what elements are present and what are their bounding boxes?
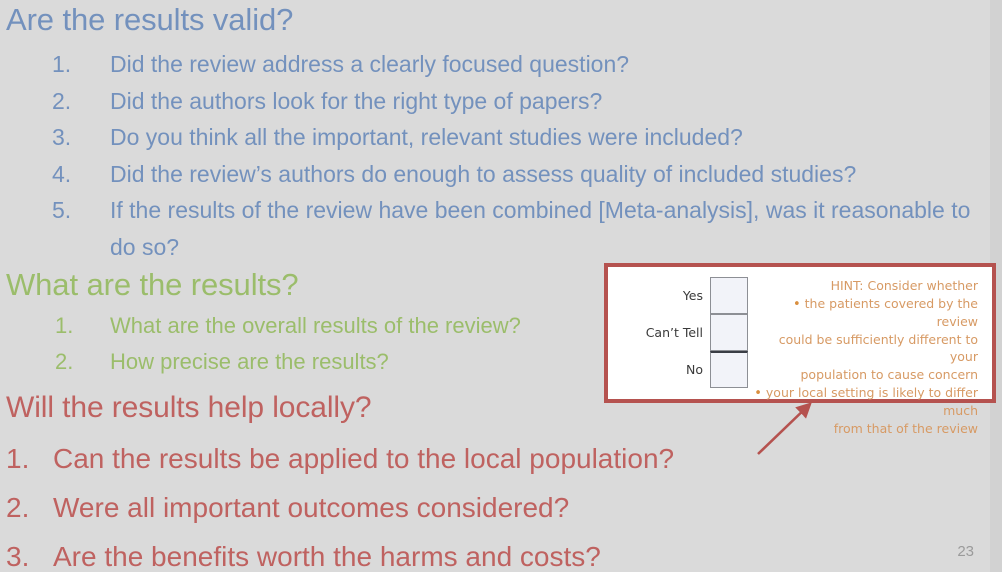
- list-item-text: Did the review’s authors do enough to as…: [0, 156, 980, 193]
- answer-row-no: No: [608, 351, 748, 388]
- answer-options-group: Yes Can’t Tell No: [608, 267, 748, 388]
- answer-checkbox-cant-tell[interactable]: [710, 314, 748, 351]
- list-item-text: How precise are the results?: [0, 344, 521, 380]
- list-item: 4. Did the review’s authors do enough to…: [0, 156, 980, 193]
- list-item-number: 2.: [6, 483, 29, 532]
- list-item-text: Do you think all the important, relevant…: [0, 119, 980, 156]
- question-list-local: 1. Can the results be applied to the loc…: [0, 434, 674, 572]
- list-item: 1. What are the overall results of the r…: [0, 308, 521, 344]
- list-item-text: Did the authors look for the right type …: [0, 83, 980, 120]
- list-item-text: What are the overall results of the revi…: [0, 308, 521, 344]
- list-item-text: Did the review address a clearly focused…: [0, 46, 980, 83]
- answer-row-cant-tell: Can’t Tell: [608, 314, 748, 351]
- list-item: 2. How precise are the results?: [0, 344, 521, 380]
- list-item-number: 1.: [52, 46, 71, 83]
- list-item-text: Were all important outcomes considered?: [0, 483, 674, 532]
- list-item-number: 1.: [6, 434, 29, 483]
- hint-callout-box: Yes Can’t Tell No HINT: Consider whether…: [604, 263, 996, 403]
- list-item-text: Can the results be applied to the local …: [0, 434, 674, 483]
- bullet-icon: •: [793, 297, 805, 312]
- answer-row-yes: Yes: [608, 277, 748, 314]
- list-item: 5. If the results of the review have bee…: [0, 192, 980, 265]
- answer-label: Yes: [683, 288, 710, 303]
- list-item-text: Are the benefits worth the harms and cos…: [0, 532, 674, 572]
- section-heading-results: What are the results?: [6, 267, 299, 303]
- hint-line: •the patients covered by the review: [752, 295, 978, 331]
- page-number: 23: [957, 543, 974, 560]
- list-item-number: 1.: [55, 308, 73, 344]
- question-list-valid: 1. Did the review address a clearly focu…: [0, 46, 980, 265]
- hint-bullet-1: •the patients covered by the review coul…: [752, 295, 978, 384]
- list-item-number: 5.: [52, 192, 71, 229]
- answer-checkbox-no[interactable]: [710, 351, 748, 388]
- hint-title: HINT: Consider whether: [752, 277, 978, 295]
- list-item-text: If the results of the review have been c…: [0, 192, 980, 265]
- answer-checkbox-yes[interactable]: [710, 277, 748, 314]
- list-item: 2. Did the authors look for the right ty…: [0, 83, 980, 120]
- callout-pointer-arrow: [752, 398, 822, 460]
- hint-line-text: could be sufficiently different to your: [752, 331, 978, 366]
- list-item: 3. Do you think all the important, relev…: [0, 119, 980, 156]
- slide-canvas: Are the results valid? 1. Did the review…: [0, 0, 1002, 572]
- hint-line-text: the patients covered by the review: [805, 296, 978, 330]
- section-heading-local: Will the results help locally?: [6, 391, 371, 425]
- list-item-number: 3.: [52, 119, 71, 156]
- question-list-results: 1. What are the overall results of the r…: [0, 308, 521, 380]
- list-item: 1. Can the results be applied to the loc…: [0, 434, 674, 483]
- answer-label: No: [686, 362, 710, 377]
- list-item: 2. Were all important outcomes considere…: [0, 483, 674, 532]
- section-heading-valid: Are the results valid?: [6, 2, 293, 38]
- list-item-number: 3.: [6, 532, 29, 572]
- list-item: 1. Did the review address a clearly focu…: [0, 46, 980, 83]
- list-item-number: 2.: [52, 83, 71, 120]
- answer-label: Can’t Tell: [646, 325, 710, 340]
- list-item: 3. Are the benefits worth the harms and …: [0, 532, 674, 572]
- list-item-number: 4.: [52, 156, 71, 193]
- list-item-number: 2.: [55, 344, 73, 380]
- hint-line-text: population to cause concern: [752, 366, 978, 384]
